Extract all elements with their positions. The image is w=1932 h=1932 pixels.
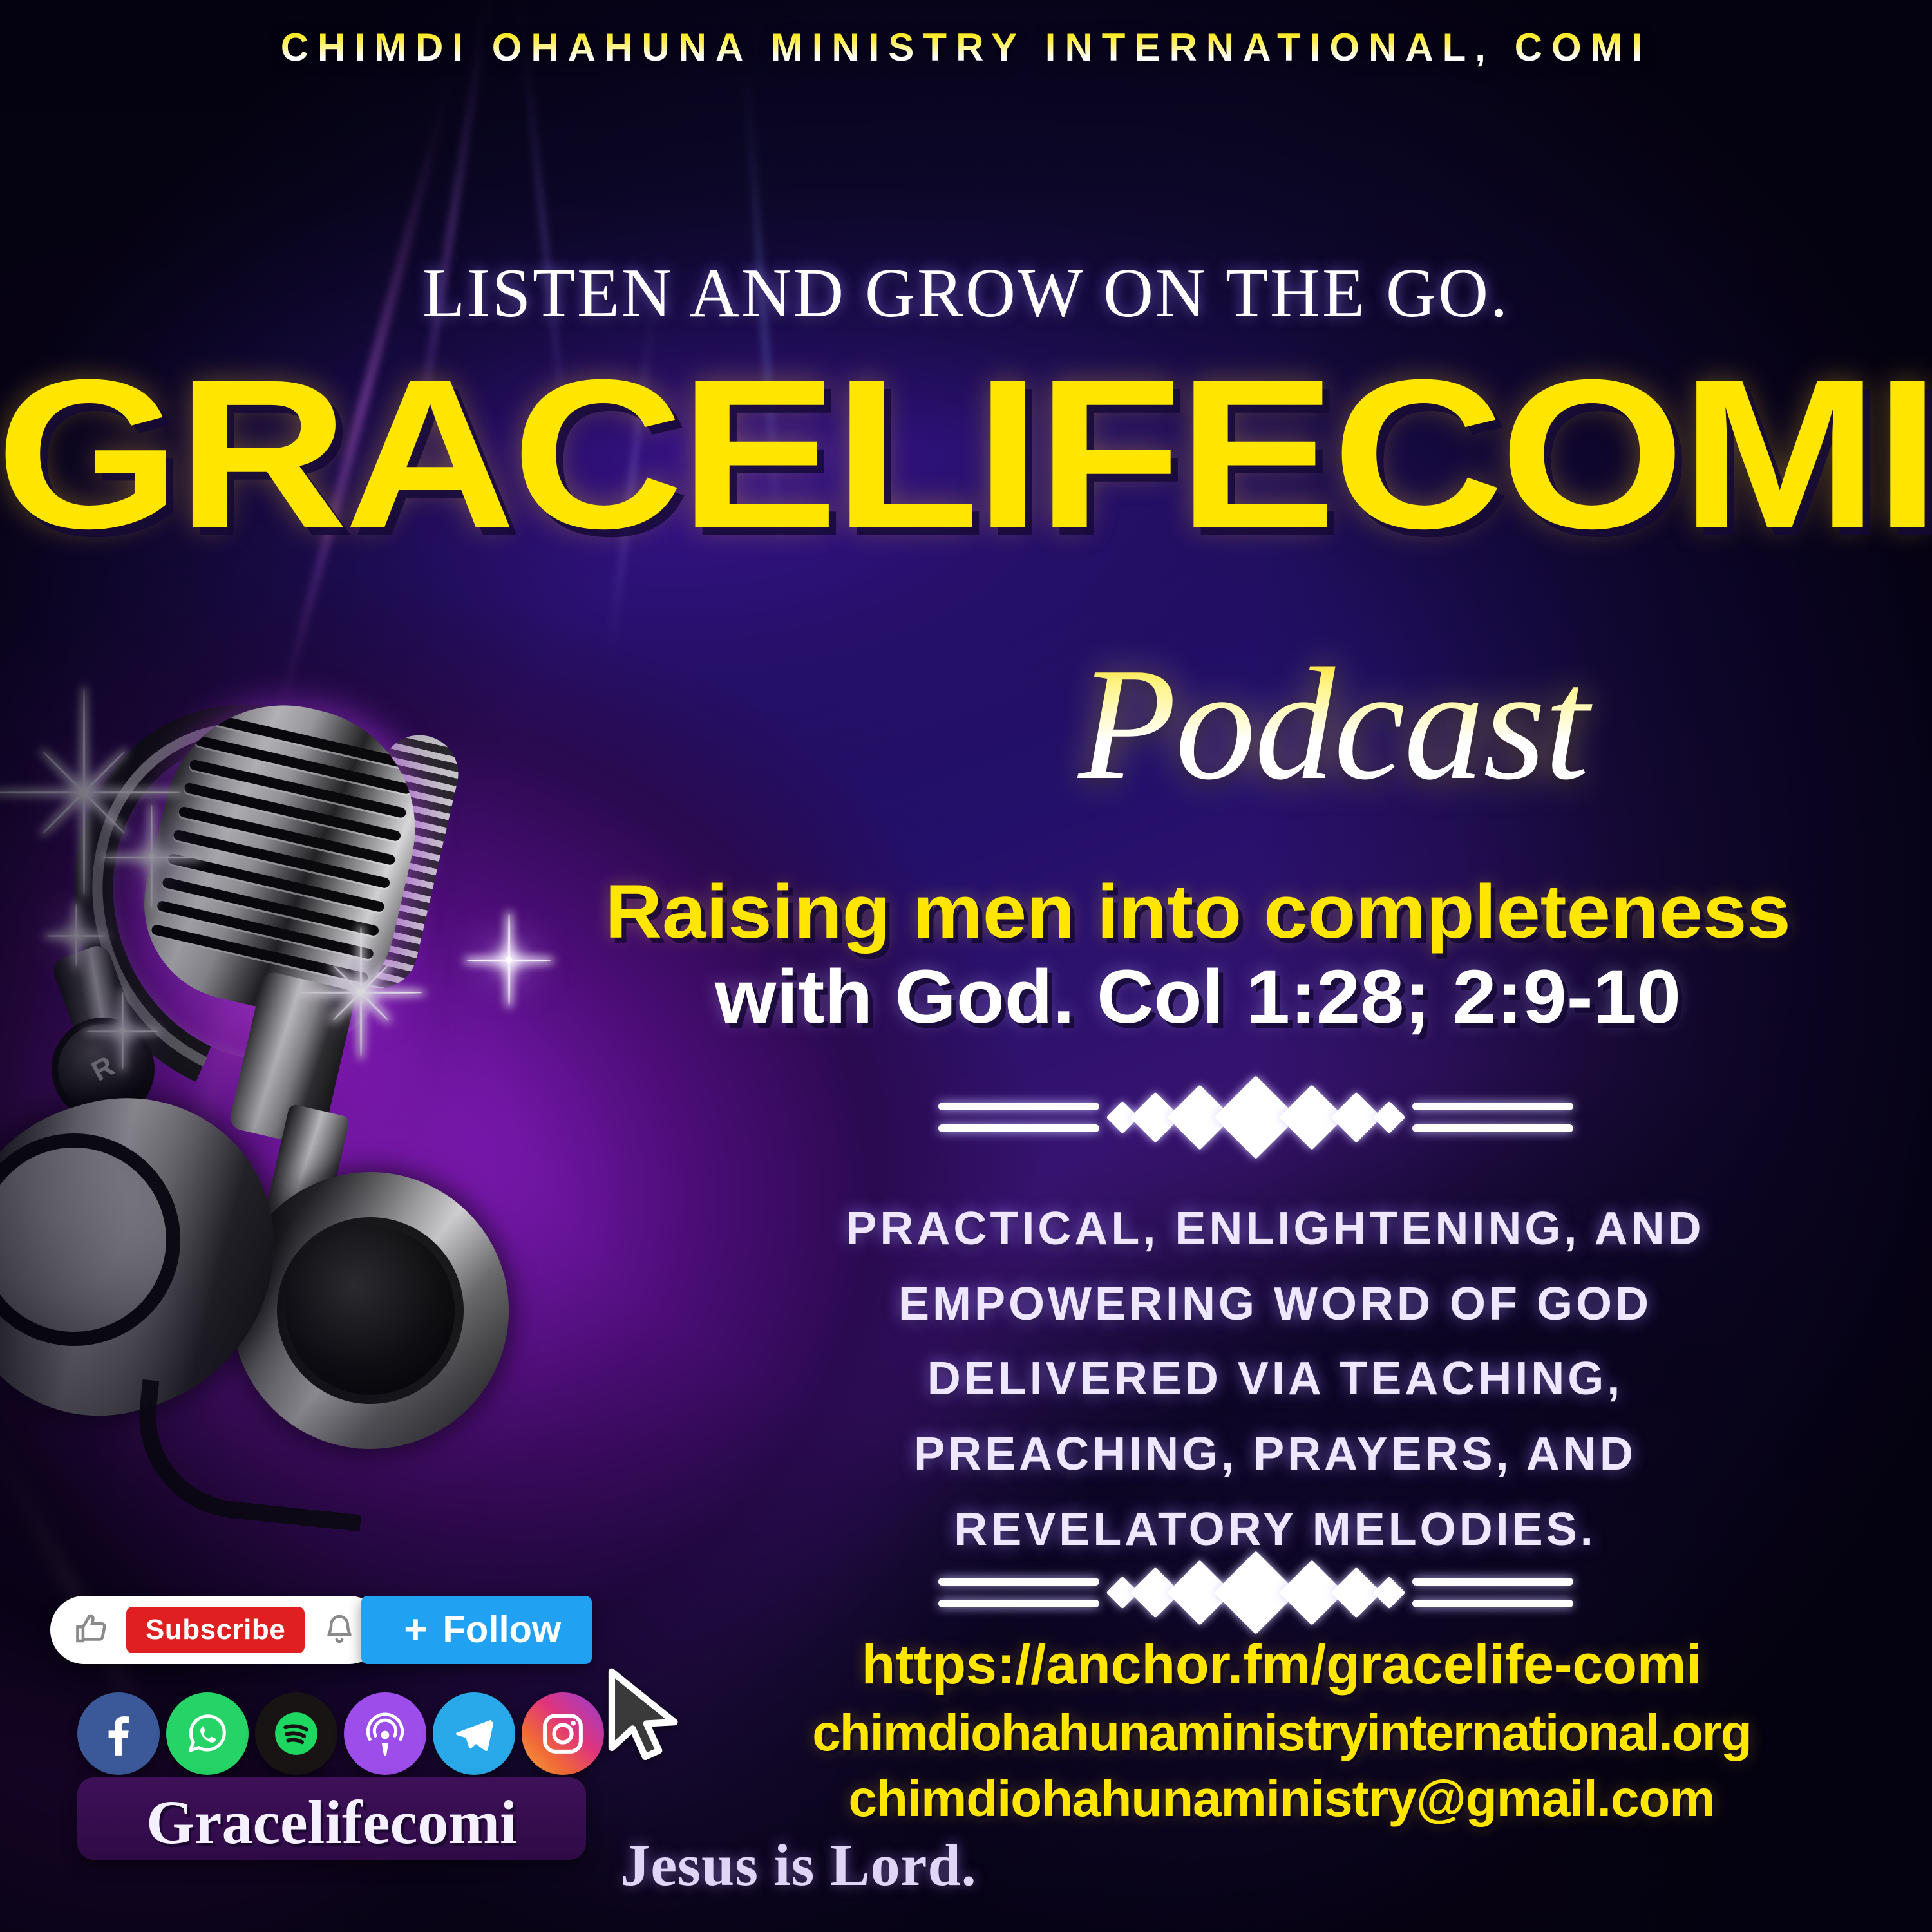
subscribe-button[interactable]: Subscribe [126,1607,305,1653]
page-title: GRACELIFECOMI [0,348,1932,560]
thumbs-up-icon[interactable] [72,1611,109,1649]
subscribe-pill: Subscribe [50,1596,383,1664]
tagline-line-1: Raising men into completeness [461,869,1932,954]
description-line: DELIVERED VIA TEACHING, [799,1341,1752,1417]
mouse-cursor-icon [603,1667,687,1763]
ornamental-divider-top [792,1082,1719,1153]
divider-bars-right [1412,1103,1573,1132]
divider-diamonds [1111,1088,1401,1147]
divider-bars-left [938,1578,1099,1607]
kicker-text: LISTEN AND GROW ON THE GO. [0,259,1932,328]
ornamental-divider-bottom [792,1557,1719,1628]
notification-bell-icon[interactable] [321,1611,357,1649]
tagline: Raising men into completeness with God. … [461,869,1932,1039]
instagram-icon[interactable] [522,1692,604,1775]
whatsapp-icon[interactable] [166,1692,249,1775]
telegram-icon[interactable] [433,1692,515,1775]
facebook-icon[interactable] [77,1692,160,1775]
description-line: REVELATORY MELODIES. [799,1492,1752,1567]
email-link[interactable]: chimdiohahunaministry@gmail.com [650,1766,1913,1832]
ministry-name-header: CHIMDI OHAHUNA MINISTRY INTERNATIONAL, C… [0,28,1932,67]
apple-podcasts-icon[interactable] [344,1692,426,1775]
follow-button[interactable]: + Follow [361,1596,592,1664]
tagline-line-2: with God. Col 1:28; 2:9-10 [461,954,1932,1039]
website-link[interactable]: chimdiohahunaministryinternational.org [650,1700,1913,1766]
follow-plus-icon: + [404,1610,427,1650]
contact-links: https://anchor.fm/gracelife-comi chimdio… [650,1629,1913,1832]
confession-text: Jesus is Lord. [554,1835,1043,1895]
podcast-url-link[interactable]: https://anchor.fm/gracelife-comi [650,1629,1913,1700]
description-line: PREACHING, PRAYERS, AND [799,1417,1752,1492]
follow-button-label: Follow [442,1611,561,1649]
description-line: EMPOWERING WORD OF GOD [799,1267,1752,1342]
podcast-script-word: Podcast [914,644,1752,805]
subscribe-follow-bar: Subscribe + Follow [50,1596,592,1664]
description-block: PRACTICAL, ENLIGHTENING, AND EMPOWERING … [799,1191,1752,1567]
social-icon-row [77,1692,604,1775]
podcast-cover-art: CHIMDI OHAHUNA MINISTRY INTERNATIONAL, C… [0,0,1932,1932]
divider-bars-right [1412,1578,1573,1607]
handle-label: Gracelifecomi [77,1781,586,1864]
divider-diamonds [1111,1563,1401,1622]
description-line: PRACTICAL, ENLIGHTENING, AND [799,1191,1752,1267]
divider-bars-left [938,1103,1099,1132]
spotify-icon[interactable] [255,1692,337,1775]
